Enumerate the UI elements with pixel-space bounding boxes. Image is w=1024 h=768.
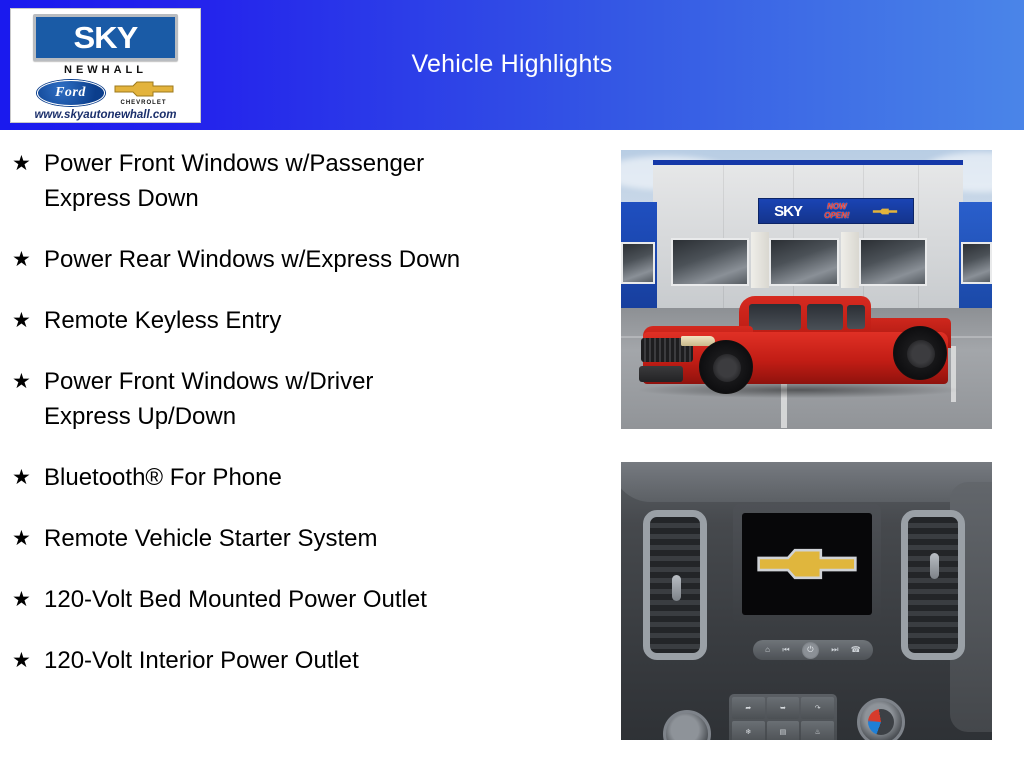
feature-label: Power Rear Windows w/Express Down [44,242,460,277]
truck-bumper [639,366,683,382]
star-bullet-icon: ★ [12,460,44,495]
storefront-window [859,238,927,286]
power-button-icon[interactable]: ⏻ [802,642,819,659]
vehicle-interior-photo[interactable]: ⌂ ⏮ ⏻ ⏭ ☎ ➦ ➥ ↷ ❄ ▤ ♨ [621,462,992,743]
list-item: ★ Power Rear Windows w/Express Down [0,242,600,277]
climate-control-panel[interactable]: ➦ ➥ ↷ ❄ ▤ ♨ [729,694,837,743]
home-icon[interactable]: ⌂ [765,646,770,654]
rear-wheel [893,326,947,380]
fan-speed-knob[interactable] [663,710,711,743]
climate-button[interactable]: ➦ [732,697,765,719]
left-air-vent [643,510,707,660]
list-item: ★ 120-Volt Bed Mounted Power Outlet [0,582,600,617]
feature-label: Remote Keyless Entry [44,303,281,338]
storefront-window [769,238,839,286]
chevrolet-bowtie-icon [113,79,175,99]
media-button-bar[interactable]: ⌂ ⏮ ⏻ ⏭ ☎ [753,640,873,660]
climate-button[interactable]: ➥ [767,697,800,719]
list-item: ★ Bluetooth® For Phone [0,460,600,495]
storefront-window [621,242,655,284]
ford-wordmark: Ford [55,85,86,101]
front-wheel [699,340,753,394]
infotainment-screen[interactable] [742,513,872,615]
dash-top-trim [621,462,992,502]
dealer-banner-sign: SKY NOWOPEN! [758,198,914,224]
vehicle-features-list: ★ Power Front Windows w/Passenger Expres… [0,146,600,704]
list-item: ★ 120-Volt Interior Power Outlet [0,643,600,678]
feature-label: 120-Volt Bed Mounted Power Outlet [44,582,427,617]
next-track-icon[interactable]: ⏭ [831,646,838,654]
slide-header: SKY NEWHALL Ford CHEVROLET www.skyautone… [0,0,1024,130]
chevrolet-logo-group: CHEVROLET [113,79,175,106]
star-bullet-icon: ★ [12,582,44,617]
sky-wordmark: SKY [74,22,138,53]
infotainment-bezel [733,504,881,624]
vent-knob [930,553,939,579]
list-item: ★ Power Front Windows w/Passenger Expres… [0,146,600,216]
list-item: ★ Power Front Windows w/Driver Express U… [0,364,600,434]
slide-root: SKY NEWHALL Ford CHEVROLET www.skyautone… [0,0,1024,768]
list-item: ★ Remote Keyless Entry [0,303,600,338]
feature-label: Bluetooth® For Phone [44,460,282,495]
feature-label: Power Front Windows w/Passenger Express … [44,146,424,216]
temperature-knob[interactable] [857,698,905,743]
star-bullet-icon: ★ [12,242,44,277]
page-title: Vehicle Highlights [0,50,1024,79]
vehicle-exterior-photo[interactable]: SKY NOWOPEN! [621,150,992,429]
climate-button[interactable]: ↷ [801,697,834,719]
storefront-window [671,238,749,286]
chevrolet-bowtie-icon [755,545,859,583]
franchise-logos-row: Ford CHEVROLET [37,79,175,106]
feature-label: Remote Vehicle Starter System [44,521,377,556]
previous-track-icon[interactable]: ⏮ [782,646,789,654]
dealer-website-url[interactable]: www.skyautonewhall.com [34,109,176,121]
star-bullet-icon: ★ [12,643,44,678]
right-air-vent [901,510,965,660]
star-bullet-icon: ★ [12,146,44,181]
front-window-glass [749,304,801,330]
banner-sky-wordmark: SKY [774,203,802,220]
list-item: ★ Remote Vehicle Starter System [0,521,600,556]
star-bullet-icon: ★ [12,303,44,338]
feature-label: Power Front Windows w/Driver Express Up/… [44,364,373,434]
rear-window-glass [807,304,843,330]
feature-label: 120-Volt Interior Power Outlet [44,643,359,678]
storefront-window [961,242,992,284]
banner-now-open-text: NOWOPEN! [824,202,849,220]
banner-chevrolet-bowtie-icon [872,207,898,216]
photo-bottom-edge [621,740,992,743]
star-bullet-icon: ★ [12,521,44,556]
phone-icon[interactable]: ☎ [851,646,861,654]
chevrolet-wordmark: CHEVROLET [120,100,166,106]
quarter-window-glass [847,305,865,329]
ford-logo-icon: Ford [37,80,105,106]
vent-knob [672,575,681,601]
star-bullet-icon: ★ [12,364,44,399]
vehicle-shadow [639,382,959,398]
